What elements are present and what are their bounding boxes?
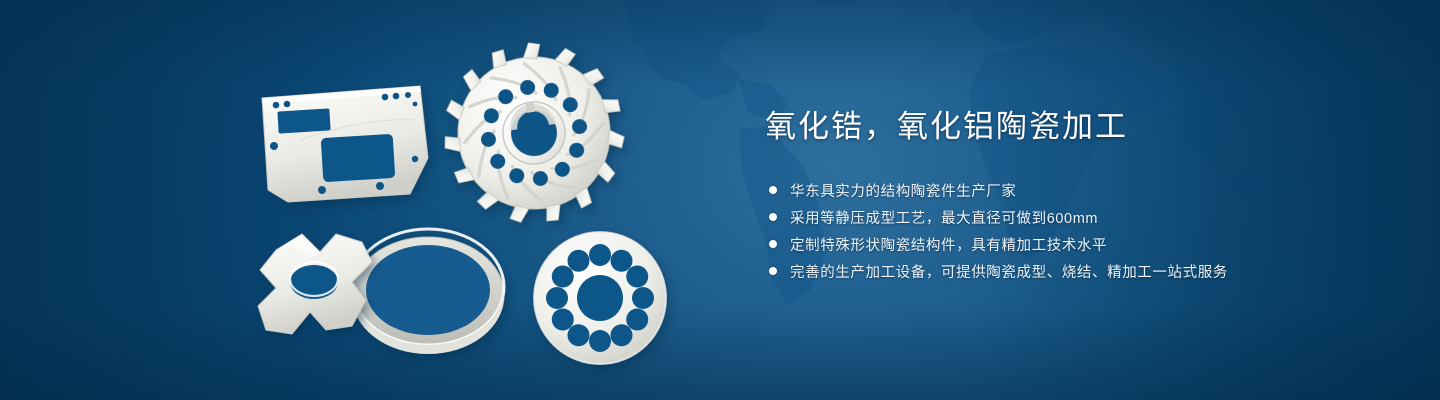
feature-text: 定制特殊形状陶瓷结构件，具有精加工技术水平 <box>790 234 1107 255</box>
feature-list: 华东具实力的结构陶瓷件生产厂家 采用等静压成型工艺，最大直径可做到600mm 定… <box>769 180 1385 282</box>
bullet-dot-icon <box>769 213 777 221</box>
bullet-dot-icon <box>769 186 777 194</box>
list-item: 采用等静压成型工艺，最大直径可做到600mm <box>769 207 1385 228</box>
feature-text: 采用等静压成型工艺，最大直径可做到600mm <box>790 207 1098 228</box>
ceramic-ring <box>352 229 504 354</box>
bullet-dot-icon <box>769 267 777 275</box>
feature-text: 完善的生产加工设备，可提供陶瓷成型、烧结、精加工一站式服务 <box>790 261 1228 282</box>
list-item: 完善的生产加工设备，可提供陶瓷成型、烧结、精加工一站式服务 <box>769 261 1385 282</box>
hero-banner: 氧化锆，氧化铝陶瓷加工 华东具实力的结构陶瓷件生产厂家 采用等静压成型工艺，最大… <box>0 0 1440 400</box>
ceramic-impeller-disc <box>431 31 637 236</box>
bullet-dot-icon <box>769 240 777 248</box>
list-item: 定制特殊形状陶瓷结构件，具有精加工技术水平 <box>769 234 1385 255</box>
product-montage <box>0 0 720 400</box>
ceramic-perforated-disc <box>534 232 666 364</box>
ceramic-mounting-plate <box>262 86 428 202</box>
feature-text: 华东具实力的结构陶瓷件生产厂家 <box>790 180 1017 201</box>
banner-copy: 氧化锆，氧化铝陶瓷加工 华东具实力的结构陶瓷件生产厂家 采用等静压成型工艺，最大… <box>765 108 1385 288</box>
banner-headline: 氧化锆，氧化铝陶瓷加工 <box>765 108 1385 147</box>
list-item: 华东具实力的结构陶瓷件生产厂家 <box>769 180 1385 201</box>
